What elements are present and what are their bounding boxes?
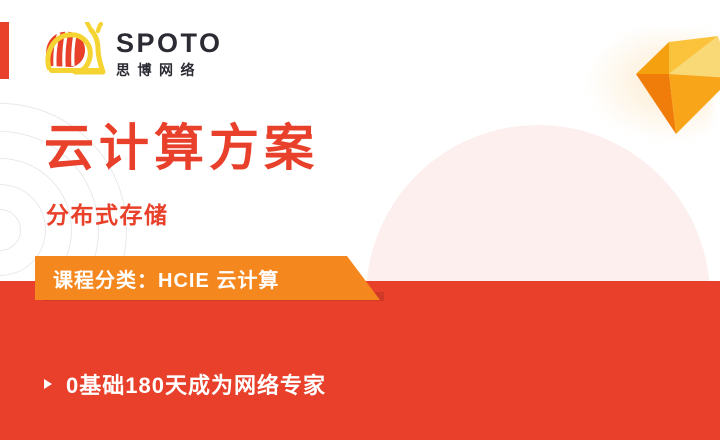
brand-name-en: SPOTO bbox=[116, 30, 223, 57]
brand-wordmark: SPOTO 思博网络 bbox=[116, 30, 223, 77]
snail-logo-icon bbox=[40, 22, 110, 84]
category-ribbon[interactable]: 课程分类：HCIE 云计算 bbox=[35, 256, 380, 300]
course-banner: SPOTO 思博网络 云计算方案 分布式存储 课程分类：HCIE 云计算 0基础… bbox=[0, 0, 720, 440]
page-title: 云计算方案 bbox=[44, 120, 319, 178]
footer-band bbox=[0, 281, 720, 440]
ring-1 bbox=[0, 209, 21, 251]
category-label: 课程分类：HCIE 云计算 bbox=[53, 264, 279, 293]
brand-name-cn: 思博网络 bbox=[116, 63, 223, 77]
triangle-right-icon bbox=[44, 379, 52, 389]
tagline: 0基础180天成为网络专家 bbox=[44, 368, 326, 400]
diamond-gem-icon bbox=[614, 16, 720, 136]
brand-logo: SPOTO 思博网络 bbox=[40, 22, 223, 84]
page-subtitle: 分布式存储 bbox=[46, 196, 169, 230]
left-accent-bar bbox=[0, 22, 9, 79]
tagline-text: 0基础180天成为网络专家 bbox=[66, 368, 326, 400]
